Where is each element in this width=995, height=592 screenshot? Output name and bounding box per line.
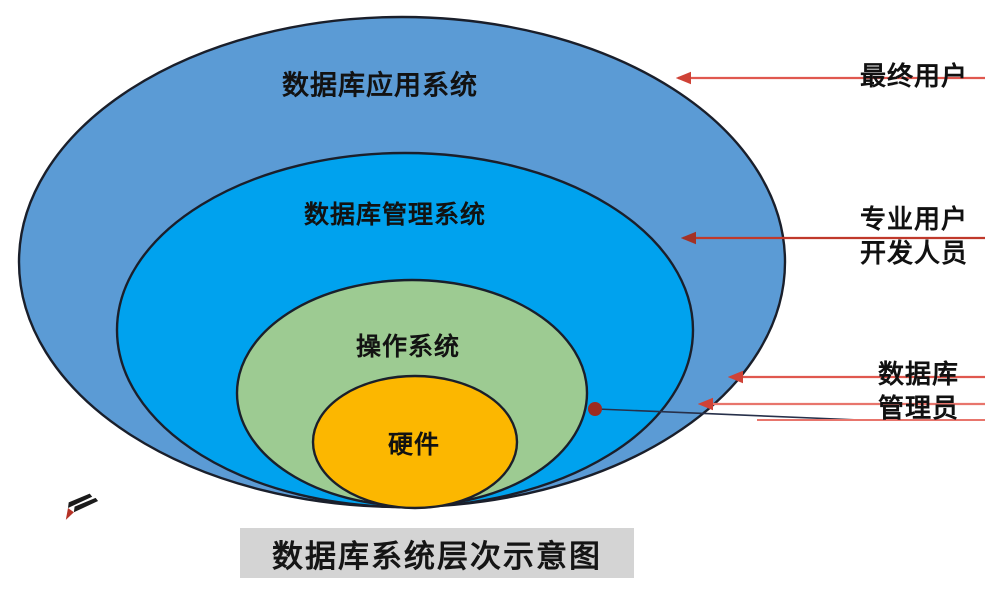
annotation-line: 最终用户 xyxy=(860,60,968,94)
annotation-line: 数据库 xyxy=(878,358,959,392)
diagram-title: 数据库系统层次示意图 xyxy=(272,531,602,576)
layer-label-hardware: 硬件 xyxy=(388,430,440,459)
annotation-label-professional-user-developer: 专业用户 开发人员 xyxy=(860,203,968,271)
layer-label-operating-system: 操作系统 xyxy=(356,332,460,361)
annotation-line: 开发人员 xyxy=(860,237,968,271)
annotation-label-database-administrator: 数据库 管理员 xyxy=(878,358,959,426)
layer-label-database-application-system: 数据库应用系统 xyxy=(282,70,478,102)
diagram-canvas: 数据库应用系统 数据库管理系统 操作系统 硬件 最终用户 专业用户 开发人员 数… xyxy=(0,0,995,592)
layer-label-database-management-system: 数据库管理系统 xyxy=(304,200,486,229)
database-hierarchy-diagram: 数据库应用系统 数据库管理系统 操作系统 硬件 xyxy=(0,0,995,592)
anchor-dot xyxy=(588,402,602,416)
annotation-label-end-user: 最终用户 xyxy=(860,60,968,94)
pen-cursor-icon xyxy=(58,488,98,524)
annotation-line: 专业用户 xyxy=(860,203,968,237)
diagram-title-banner: 数据库系统层次示意图 xyxy=(240,528,634,578)
annotation-line: 管理员 xyxy=(878,392,959,426)
